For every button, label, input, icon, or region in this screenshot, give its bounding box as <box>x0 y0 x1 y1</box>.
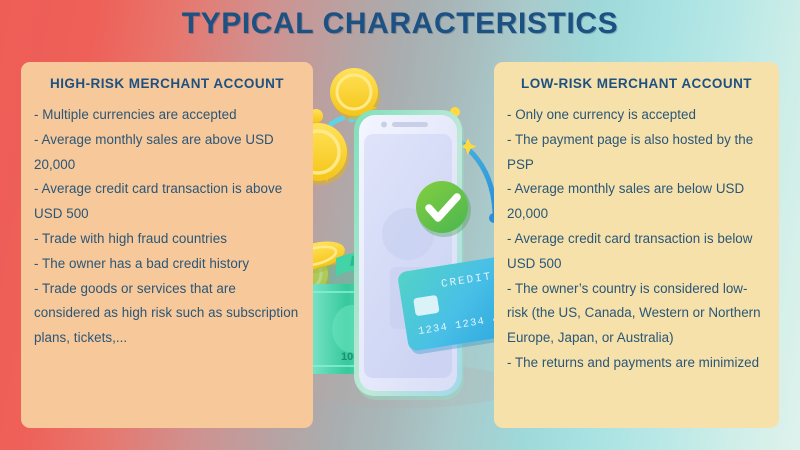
list-item: - Multiple currencies are accepted <box>34 103 300 128</box>
panel-low-risk-list: - Only one currency is accepted - The pa… <box>507 103 766 376</box>
smartphone <box>354 110 464 400</box>
arc-decoration <box>314 107 499 223</box>
list-item: - Trade goods or services that are consi… <box>34 277 300 351</box>
panel-low-risk: LOW-RISK MERCHANT ACCOUNT - Only one cur… <box>494 62 779 428</box>
card-chip <box>413 295 440 317</box>
list-item: - The owner’s country is considered low-… <box>507 277 766 351</box>
list-item: - Average monthly sales are below USD 20… <box>507 177 766 227</box>
mobile-payment-illustration: 100 CREDIT CARD 1234 1234 4321 23 <box>292 52 524 412</box>
page-title: TYPICAL CHARACTERISTICS <box>0 7 800 41</box>
panel-high-risk-heading: HIGH-RISK MERCHANT ACCOUNT <box>34 76 300 91</box>
sparkles <box>309 98 477 259</box>
list-item: - Only one currency is accepted <box>507 103 766 128</box>
list-item: - The payment page is also hosted by the… <box>507 128 766 178</box>
banknote-value: 100 <box>341 351 359 363</box>
list-item: - Average credit card transaction is bel… <box>507 227 766 277</box>
panel-low-risk-heading: LOW-RISK MERCHANT ACCOUNT <box>507 76 766 91</box>
list-item: - Trade with high fraud countries <box>34 227 300 252</box>
list-item: - Average monthly sales are above USD 20… <box>34 128 300 178</box>
rolled-banknote: 100 <box>304 252 400 374</box>
list-item: - The owner has a bad credit history <box>34 252 300 277</box>
checkmark-badge <box>416 181 471 237</box>
list-item: - The returns and payments are minimized <box>507 351 766 376</box>
panel-high-risk: HIGH-RISK MERCHANT ACCOUNT - Multiple cu… <box>21 62 313 428</box>
panel-high-risk-list: - Multiple currencies are accepted - Ave… <box>34 103 300 351</box>
list-item: - Average credit card transaction is abo… <box>34 177 300 227</box>
